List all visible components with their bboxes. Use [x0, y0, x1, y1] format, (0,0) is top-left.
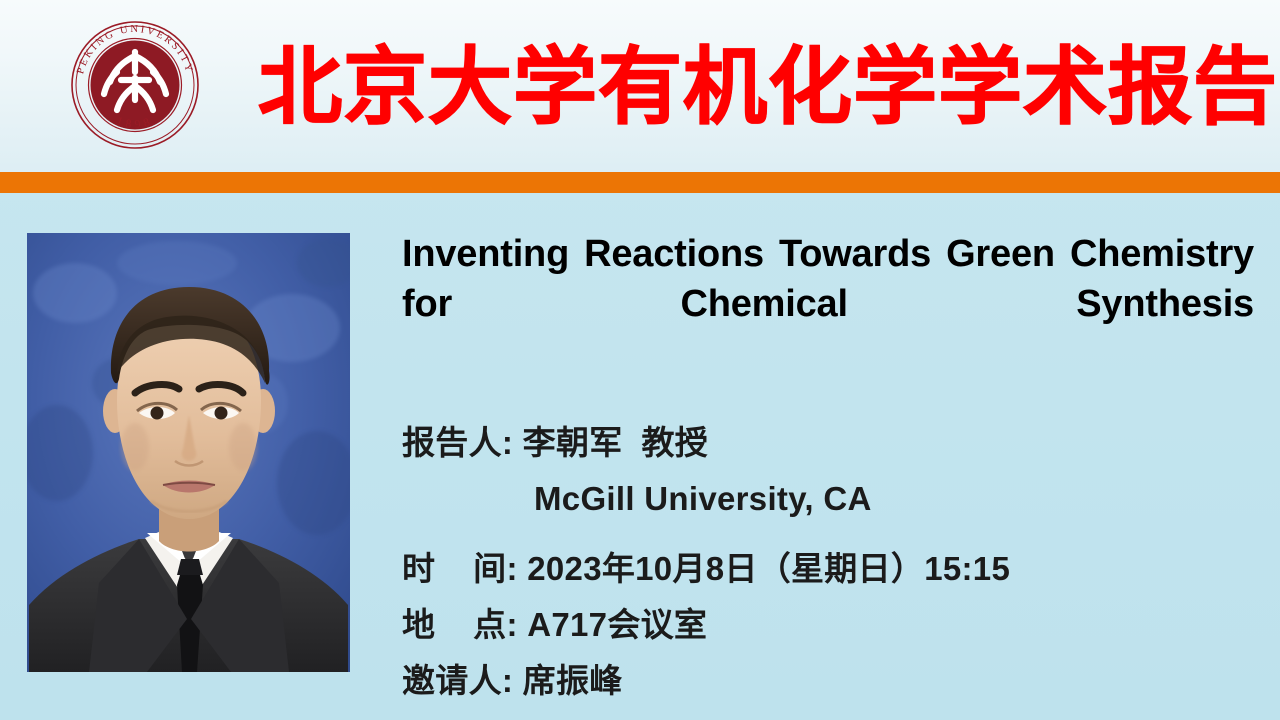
- poster-header: PEKING UNIVERSITY 1898 北京大学有机化学学术报告: [0, 0, 1280, 172]
- page-title: 北京大学有机化学学术报告: [258, 28, 1218, 146]
- speaker-line: 报告人: 李朝军 教授: [402, 415, 1254, 471]
- poster-body: Inventing Reactions Towards Green Chemis…: [0, 193, 1280, 720]
- time-line: 时 间: 2023年10月8日（星期日）15:15: [402, 541, 1254, 597]
- accent-divider: [0, 172, 1280, 193]
- affiliation-line: McGill University, CA: [402, 471, 1254, 527]
- talk-info: Inventing Reactions Towards Green Chemis…: [402, 229, 1254, 709]
- speaker-portrait: [27, 233, 350, 672]
- talk-title-text: Inventing Reactions Towards Green Chemis…: [402, 233, 1254, 325]
- talk-title: Inventing Reactions Towards Green Chemis…: [402, 229, 1254, 379]
- peking-university-logo-icon: PEKING UNIVERSITY 1898: [66, 16, 204, 154]
- host-line: 邀请人: 席振峰: [402, 653, 1254, 709]
- poster-slide: PEKING UNIVERSITY 1898 北京大学有机化学学术报告: [0, 0, 1280, 720]
- place-line: 地 点: A717会议室: [402, 597, 1254, 653]
